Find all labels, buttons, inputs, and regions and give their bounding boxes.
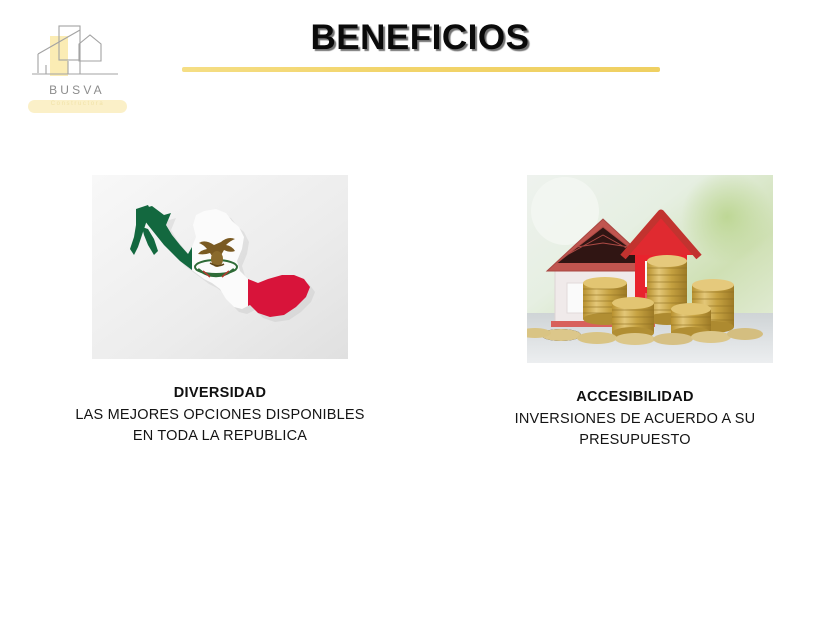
benefit-title: ACCESIBILIDAD xyxy=(448,389,822,405)
brand-tagline: Constructora xyxy=(28,101,127,107)
benefit-body-line2: EN TODA LA REPUBLICA xyxy=(18,426,422,447)
benefit-card-accesibilidad: ACCESIBILIDAD INVERSIONES DE ACUERDO A S… xyxy=(448,175,822,451)
benefit-title: DIVERSIDAD xyxy=(18,385,422,401)
benefit-body-line1: LAS MEJORES OPCIONES DISPONIBLES xyxy=(18,405,422,426)
house-coins-image xyxy=(527,175,773,363)
benefit-card-diversidad: DIVERSIDAD LAS MEJORES OPCIONES DISPONIB… xyxy=(18,175,422,447)
mexico-map-flag-image xyxy=(92,175,348,359)
benefit-body-line2: PRESUPUESTO xyxy=(448,430,822,451)
benefit-body-line1: INVERSIONES DE ACUERDO A SU xyxy=(448,409,822,430)
benefit-caption: ACCESIBILIDAD INVERSIONES DE ACUERDO A S… xyxy=(448,389,822,451)
brand-wordmark: BUSVA xyxy=(22,83,132,97)
page-title: BENEFICIOS xyxy=(0,18,840,58)
brand-tagline-pill: Constructora xyxy=(28,100,127,113)
benefit-caption: DIVERSIDAD LAS MEJORES OPCIONES DISPONIB… xyxy=(18,385,422,447)
title-divider xyxy=(182,67,660,72)
